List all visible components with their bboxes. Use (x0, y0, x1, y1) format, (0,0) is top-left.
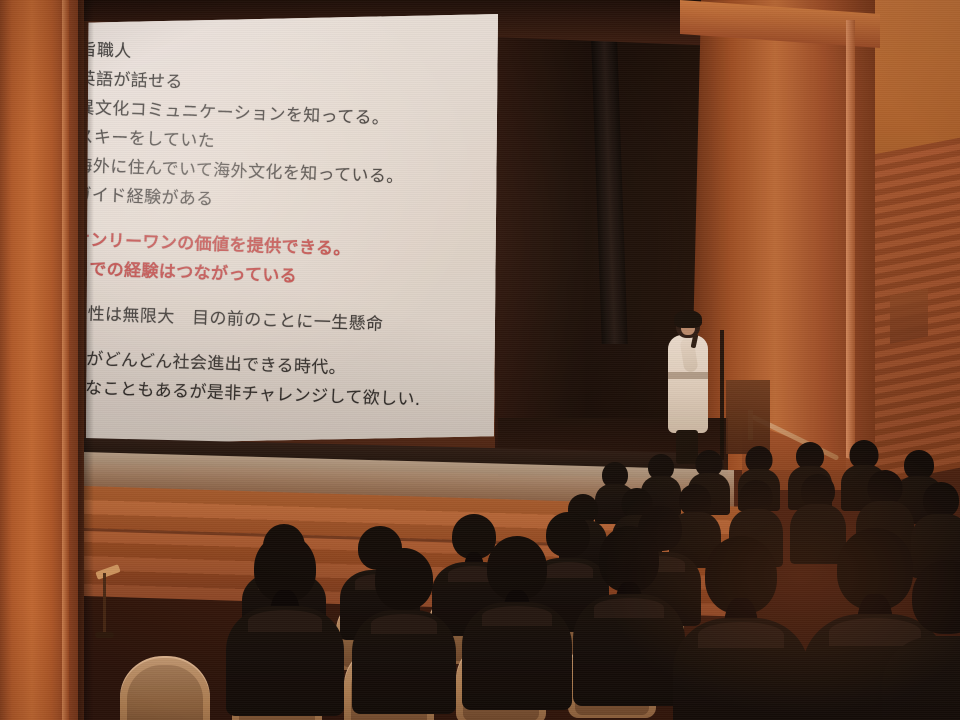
audience-member (912, 560, 960, 720)
audience-member (922, 482, 960, 552)
foreground-pillar-left (0, 0, 84, 720)
slide-text-block: 旨職人 英語が話せる 異文化コミュニケーションを知ってる。 スキーをしていた 海… (67, 36, 510, 418)
audience-seating (0, 440, 960, 720)
audience-member (486, 536, 548, 682)
audience-member (598, 526, 660, 676)
presenter-belt (668, 372, 708, 379)
proscenium-moulding (846, 20, 855, 470)
audience-member (374, 548, 434, 688)
audience-member (546, 512, 590, 612)
audience-member (252, 534, 318, 684)
pillar-edge-highlight (62, 0, 69, 720)
audience-member (704, 536, 778, 718)
right-wall-inset (890, 288, 928, 343)
pillar-cast-shadow (78, 0, 94, 720)
chair (120, 656, 210, 720)
audience-member (800, 474, 836, 542)
auditorium-photo: 旨職人 英語が話せる 異文化コミュニケーションを知ってる。 スキーをしていた 海… (0, 0, 960, 720)
projection-screen: 旨職人 英語が話せる 異文化コミュニケーションを知ってる。 スキーをしていた 海… (86, 14, 498, 444)
presenter-hair (674, 310, 702, 328)
